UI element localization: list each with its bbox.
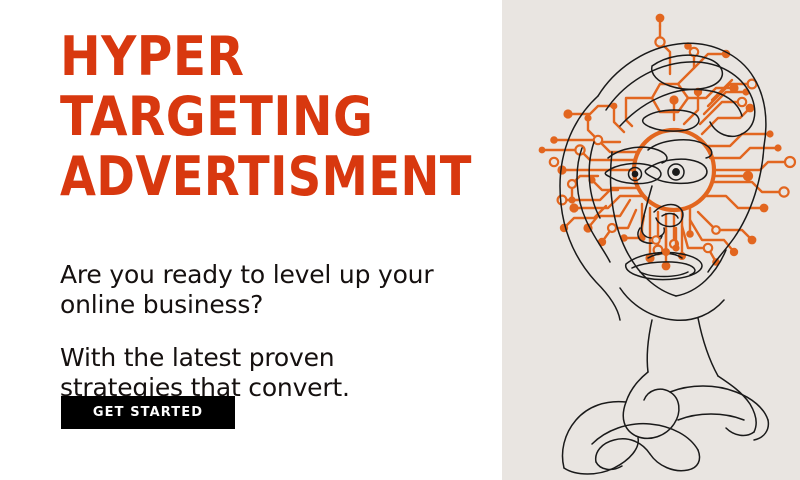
get-started-button[interactable]: GET STARTED (61, 396, 235, 429)
supporting-text: With the latest proven strategies that c… (60, 343, 450, 403)
subheadline-text: Are you ready to level up your online bu… (60, 260, 460, 320)
line-art-face-illustration (502, 0, 800, 480)
mouth-circuit-hollow-dot (652, 236, 660, 244)
headline-line-1: HYPER (60, 27, 447, 87)
advertisement-banner: HYPER TARGETING ADVERTISMENT Are you rea… (0, 0, 800, 480)
headline-line-3: ADVERTISMENT (60, 147, 430, 207)
content-panel: HYPER TARGETING ADVERTISMENT Are you rea… (0, 0, 502, 480)
illustration-panel (502, 0, 800, 480)
page-title: HYPER TARGETING ADVERTISMENT (60, 27, 490, 207)
headline-line-2: TARGETING (60, 87, 447, 147)
